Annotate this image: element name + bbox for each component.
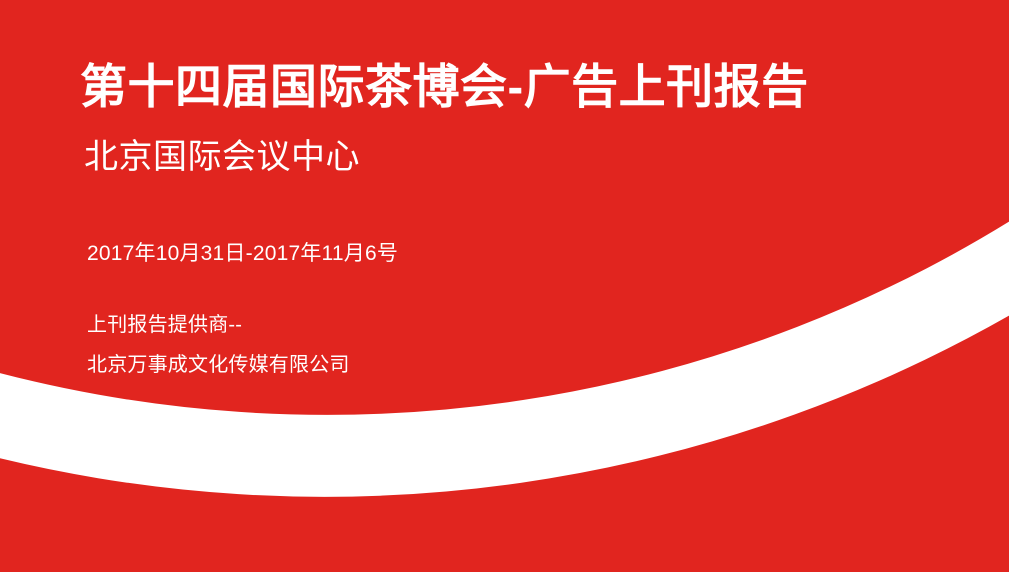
provider-company-name: 北京万事成文化传媒有限公司 xyxy=(87,348,350,377)
title-slide: 第十四届国际茶博会-广告上刊报告 北京国际会议中心 2017年10月31日-20… xyxy=(0,0,1009,572)
date-range-text: 2017年10月31日-2017年11月6号 xyxy=(87,243,398,266)
venue-subtitle: 北京国际会议中心 xyxy=(84,139,360,176)
page-title: 第十四届国际茶博会-广告上刊报告 xyxy=(80,62,809,113)
provider-label: 上刊报告提供商-- xyxy=(87,308,350,337)
slide-text-layer: 第十四届国际茶博会-广告上刊报告 北京国际会议中心 2017年10月31日-20… xyxy=(0,0,1009,572)
provider-block: 上刊报告提供商-- 北京万事成文化传媒有限公司 xyxy=(87,308,350,377)
